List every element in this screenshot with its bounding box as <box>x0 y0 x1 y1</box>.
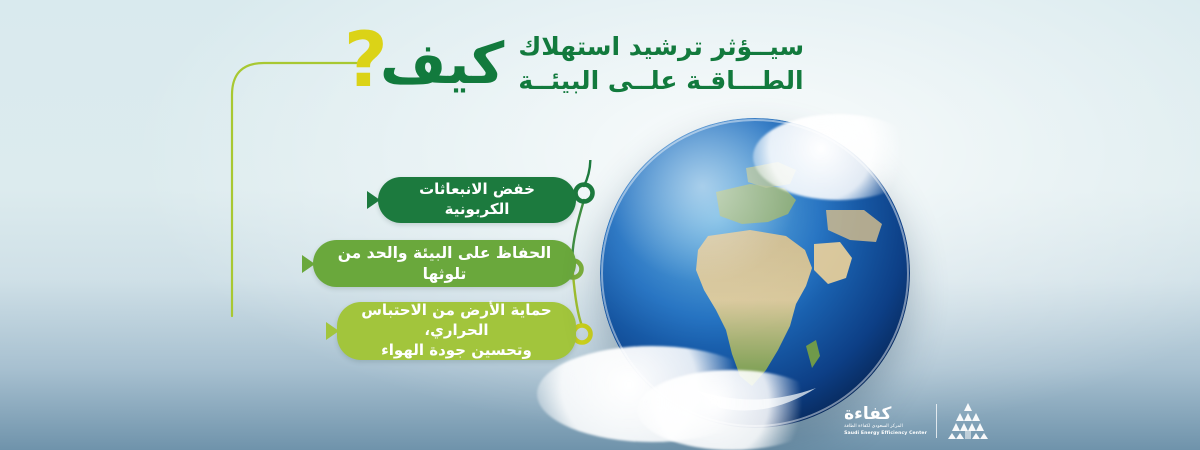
logo-text-block: كفاءة المركز السعودي لكفاءة الطاقة Saudi… <box>844 406 927 436</box>
benefit-pill-3-line-2: وتحسين جودة الهواء <box>381 341 532 359</box>
logo-subtitle-ar: المركز السعودي لكفاءة الطاقة <box>844 424 903 430</box>
cloud-bottom-center <box>637 370 827 450</box>
logo-divider <box>936 404 937 438</box>
benefit-pill-2-label: الحفاظ على البيئة والحد من تلوثها <box>313 243 576 284</box>
headline-lead-word: كيف <box>380 36 504 93</box>
headline-line-2: الطـــاقـة علــى البيئــة <box>518 66 803 97</box>
saudi-energy-efficiency-triangle-emblem-icon <box>946 401 990 441</box>
cloud-top-right <box>753 114 923 200</box>
headline-lines: سيــؤثر ترشيد استهلاك الطـــاقـة علــى ا… <box>518 32 804 96</box>
benefit-pill-1[interactable]: خفض الانبعاثات الكربونية <box>378 177 576 223</box>
benefit-pill-3-label: حماية الأرض من الاحتباس الحراري، وتحسين … <box>337 301 576 360</box>
logo-brand-name: كفاءة <box>844 406 891 423</box>
benefit-pill-2[interactable]: الحفاظ على البيئة والحد من تلوثها <box>313 240 576 287</box>
infographic-banner: ؟ كيف سيــؤثر ترشيد استهلاك الطـــاقـة ع… <box>0 0 1200 450</box>
benefit-pill-3[interactable]: حماية الأرض من الاحتباس الحراري، وتحسين … <box>337 302 576 360</box>
logo-subtitle-en: Saudi Energy Efficiency Center <box>844 431 927 437</box>
brand-logo: كفاءة المركز السعودي لكفاءة الطاقة Saudi… <box>840 396 990 446</box>
page-title: كيف سيــؤثر ترشيد استهلاك الطـــاقـة علـ… <box>380 18 925 110</box>
headline-line-1: سيــؤثر ترشيد استهلاك <box>518 32 804 63</box>
benefit-pill-1-label: خفض الانبعاثات الكربونية <box>378 180 576 220</box>
benefit-pill-3-line-1: حماية الأرض من الاحتباس الحراري، <box>361 301 552 339</box>
